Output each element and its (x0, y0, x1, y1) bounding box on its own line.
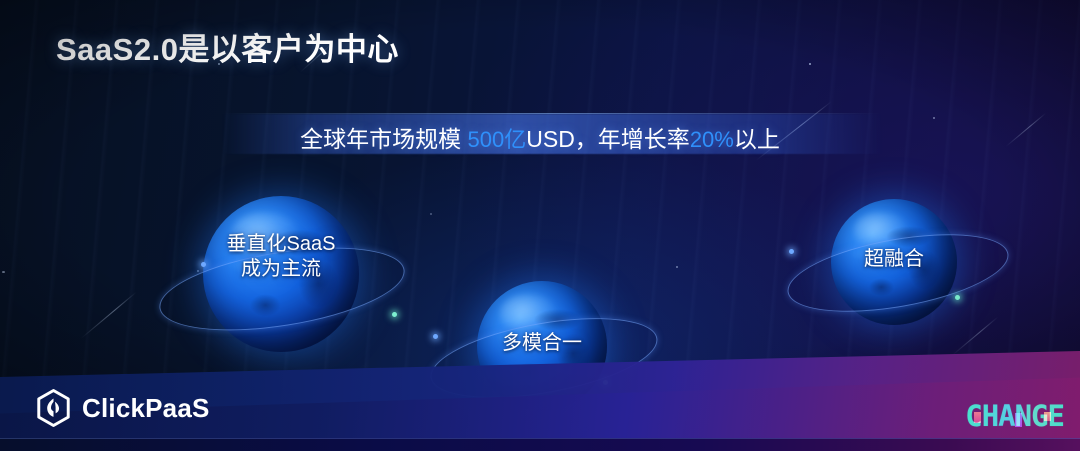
hexagon-logo-icon (36, 389, 71, 427)
brand-logo[interactable]: ClickPaaS (36, 389, 210, 427)
star-dot (430, 213, 432, 215)
page-title: SaaS2.0是以客户为中心 (56, 24, 399, 69)
glitch-artifact (974, 412, 981, 423)
subtitle-part-3: 以上 (734, 126, 780, 152)
subtitle-part-1: 全球年市场规模 (300, 126, 467, 152)
star-dot (676, 266, 678, 268)
star-dot (933, 117, 935, 119)
brand-name: ClickPaaS (82, 393, 210, 424)
orbit-marker-dot (433, 334, 438, 339)
globe-vertical-saas[interactable]: 垂直化SaaS 成为主流 (203, 196, 359, 352)
orbit-marker-dot (201, 262, 206, 267)
orbit-marker-dot (789, 249, 794, 254)
star-dot (2, 271, 5, 273)
orbit-marker-dot (955, 295, 960, 300)
subtitle-text: 全球年市场规模 500亿USD，年增长率20%以上 (0, 120, 1080, 154)
star-dot (809, 63, 811, 65)
glitch-artifact (1015, 413, 1022, 427)
slide-root: SaaS2.0是以客户为中心 全球年市场规模 500亿USD，年增长率20%以上… (0, 0, 1080, 451)
globe-hyperconverged[interactable]: 超融合 (831, 199, 957, 325)
subtitle-highlight-growth-rate: 20% (690, 127, 734, 152)
glitch-artifact (1044, 412, 1051, 421)
footer-bottom-strip (0, 438, 1080, 451)
star-dot (197, 270, 199, 272)
shooting-star-streak (952, 317, 999, 356)
shooting-star-streak (81, 292, 137, 339)
subtitle-highlight-market-size: 500亿 (468, 127, 527, 152)
orbit-marker-dot (392, 312, 397, 317)
subtitle-part-2: USD，年增长率 (526, 126, 690, 152)
